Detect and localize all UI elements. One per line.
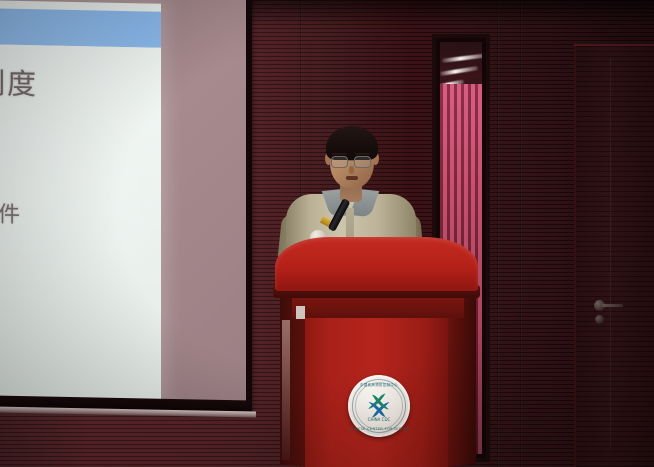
emblem-text-bottom: CHINESE CENTER FOR DISEASE CONTROL AND P… (348, 427, 410, 431)
eyeglasses-bridge (348, 160, 354, 161)
presenter-mouth (346, 176, 358, 180)
presentation-slide: 制度 文件 (0, 0, 161, 400)
ceiling-light (442, 53, 482, 63)
eyeglasses-icon (331, 156, 348, 168)
wall-seam (497, 0, 499, 467)
emblem-abbreviation: CHINA CDC (348, 417, 410, 422)
lectern-top (275, 237, 478, 291)
photo-scene: 制度 文件 (0, 0, 654, 467)
lectern-side-right (446, 293, 476, 467)
presenter-brow-left (332, 153, 347, 155)
door-lever-icon[interactable] (602, 304, 623, 307)
eyeglasses-icon (354, 156, 371, 168)
slide-header-bar (0, 8, 161, 48)
emblem-text-top: 中国疾病预防控制中心 (348, 382, 410, 387)
institution-emblem: 中国疾病预防控制中心 CHINA CDC CHINESE CENTER FOR … (348, 375, 410, 437)
slide-text-line-2: 文件 (0, 196, 22, 229)
wooden-door (574, 46, 654, 467)
wall-top-shadow (250, 0, 654, 26)
door-panel-seam (610, 58, 611, 448)
lectern-shelf (292, 296, 464, 318)
presenter-brow-right (355, 153, 370, 155)
wall-seam (520, 0, 522, 467)
lectern-side-tag (296, 306, 305, 319)
ceiling-light (440, 66, 478, 76)
presenter-nose (349, 166, 354, 174)
door-lock-icon[interactable] (595, 315, 604, 324)
lectern-edge-highlight (282, 320, 290, 460)
slide-text-line-1: 制度 (0, 60, 38, 103)
